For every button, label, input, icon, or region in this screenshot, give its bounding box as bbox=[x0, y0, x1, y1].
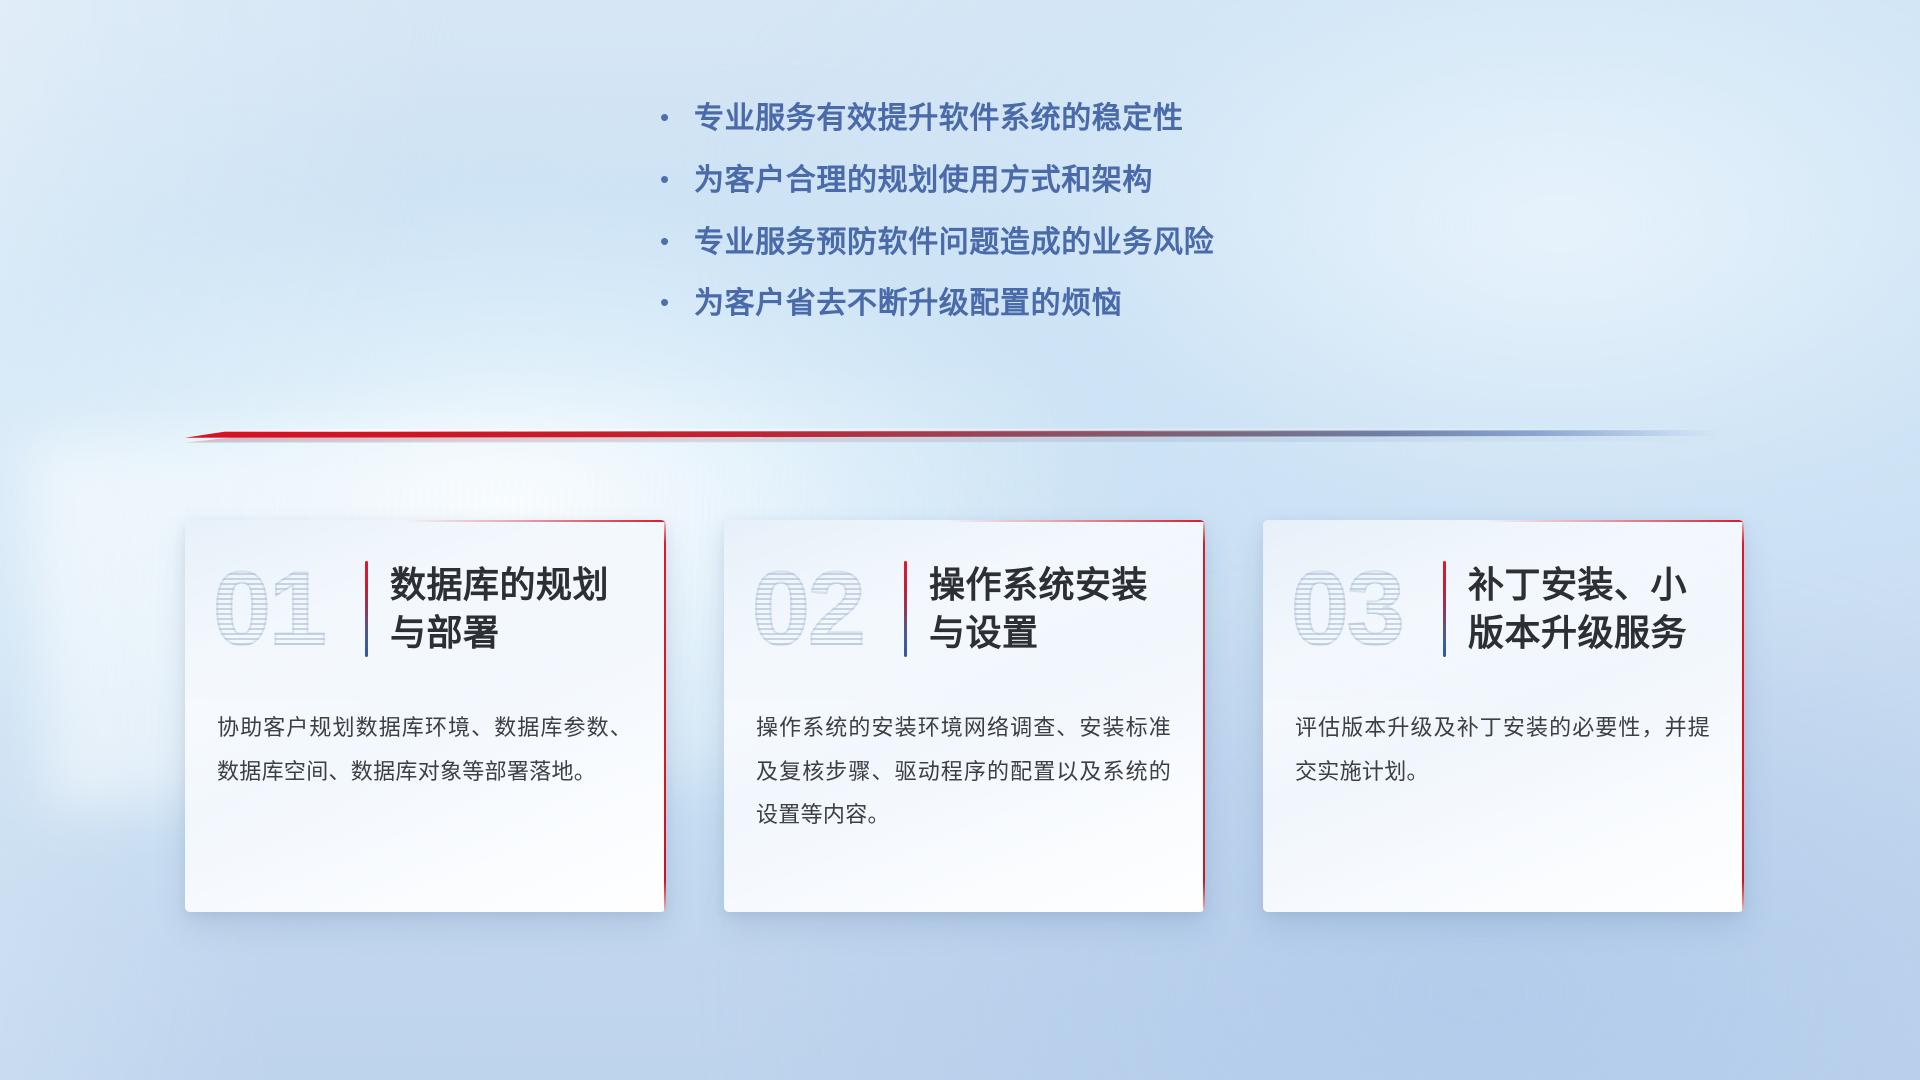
bullet-item: • 为客户省去不断升级配置的烦恼 bbox=[660, 285, 1400, 323]
wedge-graphic bbox=[185, 418, 1720, 446]
card-header: 02 操作系统安装与设置 bbox=[724, 520, 1205, 698]
bullet-item: • 专业服务预防软件问题造成的业务风险 bbox=[660, 224, 1400, 262]
bullet-item-label: 专业服务有效提升软件系统的稳定性 bbox=[694, 100, 1184, 138]
slide-canvas: • 专业服务有效提升软件系统的稳定性 • 为客户合理的规划使用方式和架构 • 专… bbox=[0, 0, 1920, 1080]
card-divider-rule bbox=[904, 561, 907, 657]
card-divider-rule bbox=[1443, 561, 1446, 657]
card-header: 03 补丁安装、小版本升级服务 bbox=[1263, 520, 1744, 698]
service-card-row: 01 数据库的规划与部署 协助客户规划数据库环境、数据库参数、数据库空间、数据库… bbox=[185, 520, 1745, 912]
bullet-item-label: 为客户省去不断升级配置的烦恼 bbox=[694, 285, 1122, 323]
service-card[interactable]: 03 补丁安装、小版本升级服务 评估版本升级及补丁安装的必要性，并提交实施计划。 bbox=[1263, 520, 1744, 912]
service-card[interactable]: 02 操作系统安装与设置 操作系统的安装环境网络调查、安装标准及复核步骤、驱动程… bbox=[724, 520, 1205, 912]
section-divider bbox=[185, 418, 1720, 446]
card-number-watermark: 02 bbox=[752, 553, 898, 665]
bullet-dot-icon: • bbox=[660, 166, 694, 192]
card-title: 补丁安装、小版本升级服务 bbox=[1468, 561, 1718, 656]
card-title: 数据库的规划与部署 bbox=[390, 561, 640, 656]
bullet-item-label: 专业服务预防软件问题造成的业务风险 bbox=[694, 224, 1214, 262]
bullet-dot-icon: • bbox=[660, 289, 694, 315]
service-card[interactable]: 01 数据库的规划与部署 协助客户规划数据库环境、数据库参数、数据库空间、数据库… bbox=[185, 520, 666, 912]
card-divider-rule bbox=[365, 561, 368, 657]
card-title: 操作系统安装与设置 bbox=[929, 561, 1179, 656]
card-number-watermark: 03 bbox=[1291, 553, 1437, 665]
card-header: 01 数据库的规划与部署 bbox=[185, 520, 666, 698]
bullet-item: • 专业服务有效提升软件系统的稳定性 bbox=[660, 100, 1400, 138]
bullet-dot-icon: • bbox=[660, 104, 694, 130]
bullet-item: • 为客户合理的规划使用方式和架构 bbox=[660, 162, 1400, 200]
bullet-item-label: 为客户合理的规划使用方式和架构 bbox=[694, 162, 1153, 200]
card-description: 操作系统的安装环境网络调查、安装标准及复核步骤、驱动程序的配置以及系统的设置等内… bbox=[724, 698, 1205, 837]
benefits-bullet-list: • 专业服务有效提升软件系统的稳定性 • 为客户合理的规划使用方式和架构 • 专… bbox=[660, 100, 1400, 347]
bullet-dot-icon: • bbox=[660, 228, 694, 254]
card-number-watermark: 01 bbox=[213, 553, 359, 665]
card-description: 评估版本升级及补丁安装的必要性，并提交实施计划。 bbox=[1263, 698, 1744, 793]
card-description: 协助客户规划数据库环境、数据库参数、数据库空间、数据库对象等部署落地。 bbox=[185, 698, 666, 793]
